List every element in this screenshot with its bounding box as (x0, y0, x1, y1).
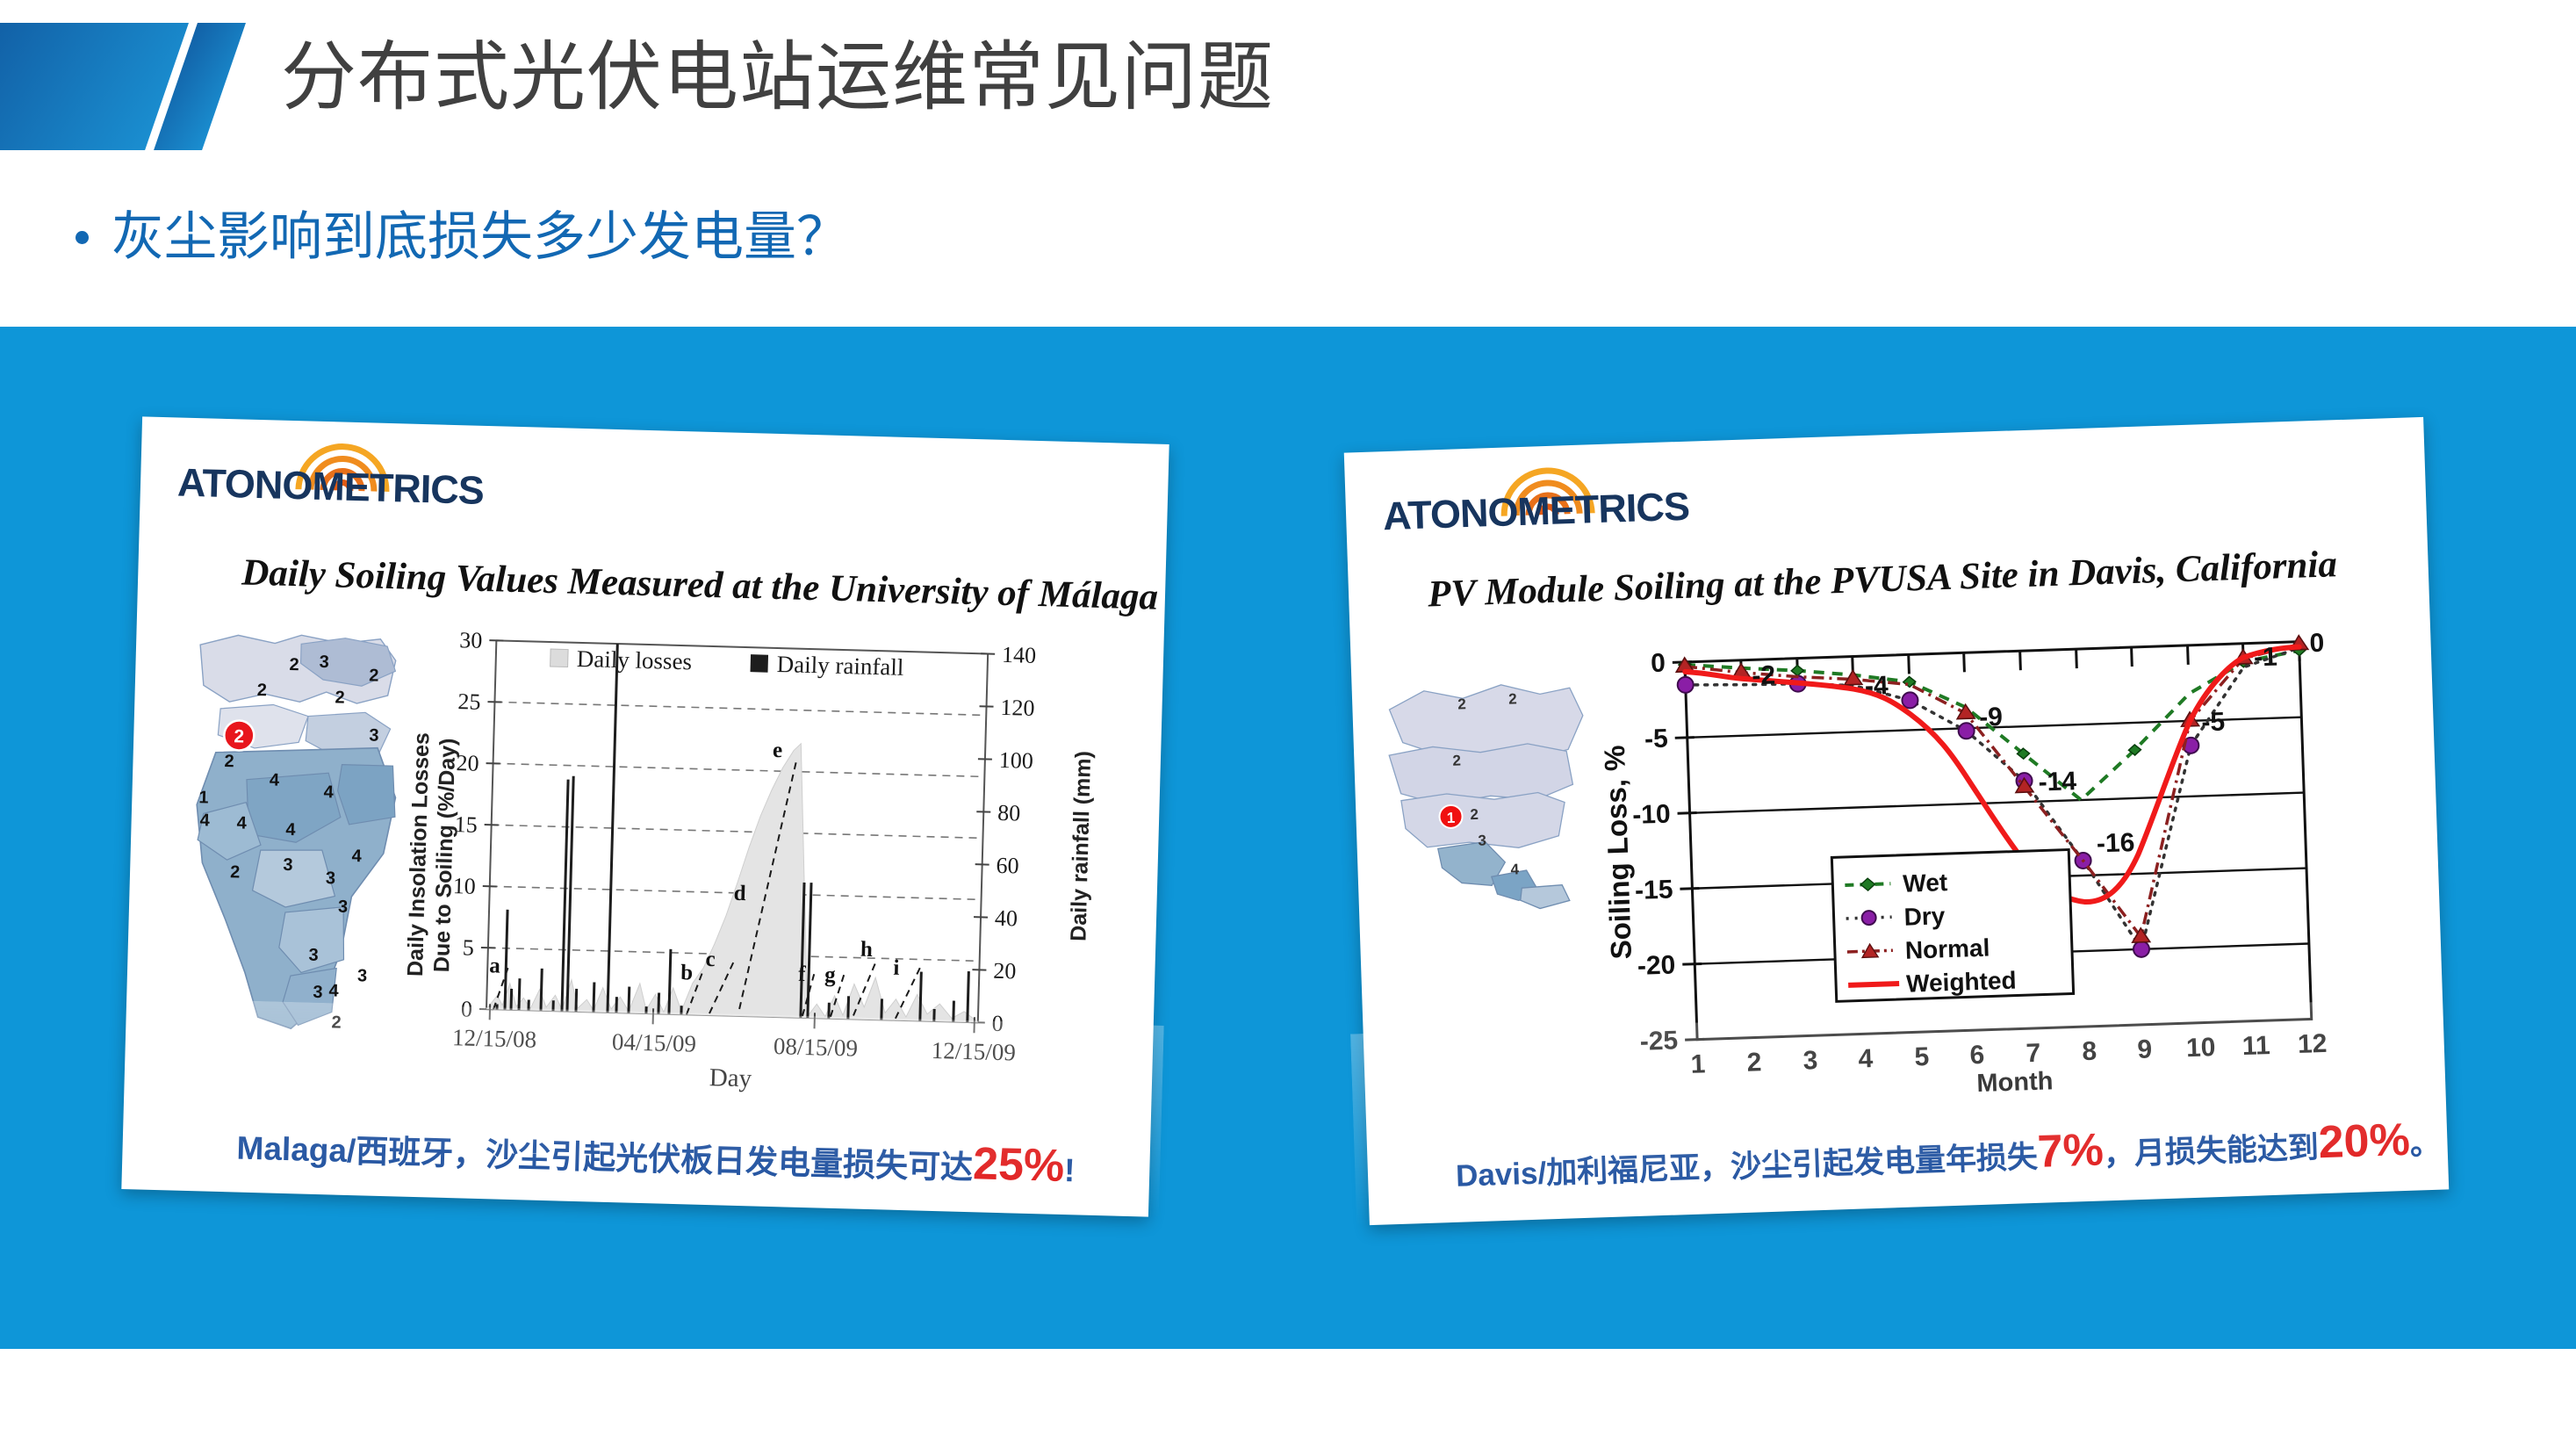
svg-text:2: 2 (1746, 1048, 1762, 1078)
annotation-a: a (489, 954, 501, 977)
svg-text:4: 4 (323, 782, 335, 802)
svg-text:80: 80 (997, 800, 1021, 826)
annotation-g: g (824, 963, 837, 987)
svg-text:3: 3 (319, 652, 329, 672)
right-chart-ylabel: Soiling Loss, % (1598, 745, 1637, 960)
svg-text:4: 4 (1858, 1044, 1874, 1074)
svg-text:0: 0 (1651, 649, 1666, 679)
svg-text:4: 4 (199, 811, 211, 830)
left-caption: Malaga/西班牙，沙尘引起光伏板日发电量损失可达25%! (236, 1118, 1076, 1193)
svg-text:2: 2 (256, 681, 267, 700)
annotation-i: i (893, 956, 900, 980)
svg-text:Weighted: Weighted (1906, 967, 2017, 998)
svg-text:4: 4 (236, 813, 248, 833)
right-figure-card[interactable]: ATONOMETRICS PV Module Soiling at the PV… (1344, 417, 2450, 1225)
atonometrics-logo-right: ATONOMETRICS (1382, 463, 1736, 555)
svg-text:2: 2 (289, 655, 299, 674)
svg-text:2: 2 (335, 688, 345, 707)
svg-text:3: 3 (308, 946, 319, 965)
left-caption-value: 25% (972, 1138, 1065, 1192)
left-chart-plot: 302520 15105 0 140120100 806040 200 (387, 608, 1120, 1119)
slide-header: 分布式光伏电站运维常见问题 灰尘影响到底损失多少发电量？ (0, 0, 2576, 327)
svg-text:2: 2 (1457, 696, 1466, 712)
svg-text:6: 6 (1969, 1041, 1985, 1071)
svg-text:-15: -15 (1635, 875, 1673, 905)
svg-text:1: 1 (1690, 1049, 1706, 1079)
svg-text:3: 3 (283, 855, 293, 875)
svg-text:2: 2 (369, 666, 379, 685)
svg-text:2: 2 (1452, 752, 1461, 768)
logo-wordmark: ATONOMETRICS (176, 459, 484, 513)
right-soiling-map: 22 22 34 1 (1381, 664, 1613, 1049)
svg-text:140: 140 (1002, 642, 1037, 668)
svg-text:Dry: Dry (1903, 902, 1946, 931)
svg-text:20: 20 (993, 958, 1017, 984)
svg-text:12/15/08: 12/15/08 (452, 1024, 537, 1053)
header-decoration (0, 23, 290, 150)
svg-text:Normal: Normal (1904, 934, 1990, 964)
left-chart-title: Daily Soiling Values Measured at the Uni… (241, 551, 1159, 618)
annotation-d: d (733, 882, 746, 905)
right-caption-value-1: 7% (2037, 1124, 2105, 1177)
svg-text:5: 5 (463, 934, 475, 960)
data-label-m2: -2 (1752, 660, 1776, 690)
left-chart-xlabel: Day (709, 1063, 752, 1092)
right-caption-middle: ，月损失能达到 (2103, 1130, 2319, 1171)
svg-text:0: 0 (461, 996, 473, 1021)
logo-wordmark-right: ATONOMETRICS (1382, 484, 1689, 540)
svg-text:100: 100 (999, 747, 1034, 774)
right-chart-title: PV Module Soiling at the PVUSA Site in D… (1427, 543, 2337, 616)
left-soiling-map: 232 223 244 144 443 323 333 42 2 (159, 628, 407, 1047)
svg-text:Daily losses: Daily losses (576, 645, 692, 675)
annotation-b: b (680, 961, 694, 984)
bullet-dot-icon (76, 231, 89, 244)
svg-text:-25: -25 (1639, 1026, 1678, 1056)
svg-text:3: 3 (1478, 833, 1486, 849)
annotation-e: e (773, 739, 783, 762)
left-chart-y2label: Daily rainfall (mm) (1066, 751, 1096, 941)
slide-root: 分布式光伏电站运维常见问题 灰尘影响到底损失多少发电量？ ATONOMETRIC… (0, 0, 2576, 1449)
svg-text:8: 8 (2082, 1037, 2097, 1067)
right-chart-xlabel: Month (1976, 1067, 2054, 1098)
annotation-c: c (705, 948, 716, 971)
data-label-m1: -1 (2254, 643, 2278, 673)
svg-text:2: 2 (331, 1013, 342, 1032)
svg-text:12: 12 (2297, 1029, 2327, 1059)
svg-text:25: 25 (457, 688, 481, 715)
atonometrics-logo: ATONOMETRICS (176, 440, 529, 530)
page-title: 分布式光伏电站运维常见问题 (281, 25, 1949, 130)
svg-text:3: 3 (338, 898, 349, 917)
svg-text:-5: -5 (1644, 724, 1669, 754)
svg-text:04/15/09: 04/15/09 (612, 1028, 697, 1057)
svg-text:10: 10 (2186, 1033, 2216, 1063)
svg-text:3: 3 (1802, 1046, 1818, 1076)
svg-text:3: 3 (313, 983, 323, 1002)
left-figure-card[interactable]: ATONOMETRICS Daily Soiling Values Measur… (121, 416, 1169, 1216)
svg-text:3: 3 (326, 869, 336, 888)
left-caption-prefix: Malaga/西班牙，沙尘引起光伏板日发电量损失可达 (236, 1130, 974, 1186)
svg-text:4: 4 (285, 820, 297, 840)
right-caption-suffix: 。 (2409, 1127, 2441, 1162)
svg-text:08/15/09: 08/15/09 (774, 1033, 859, 1062)
svg-text:Daily rainfall: Daily rainfall (776, 651, 903, 681)
svg-text:40: 40 (995, 905, 1018, 932)
data-label-m16: -16 (2096, 828, 2134, 858)
map-marker-label-right: 1 (1447, 810, 1456, 826)
data-label-m9: -9 (1979, 703, 2004, 732)
svg-text:9: 9 (2137, 1034, 2153, 1064)
right-chart-plot: 0-5-10 -15-20-25 (1587, 608, 2376, 1125)
svg-text:30: 30 (459, 627, 483, 653)
svg-text:7: 7 (2026, 1039, 2041, 1069)
svg-text:Due to Soiling (%/Day): Due to Soiling (%/Day) (429, 738, 460, 972)
svg-text:-10: -10 (1632, 800, 1671, 830)
svg-text:4: 4 (1510, 861, 1520, 877)
map-marker-label-left: 2 (234, 726, 244, 746)
annotation-h: h (860, 938, 874, 962)
svg-text:4: 4 (351, 847, 363, 866)
bullet-item: 灰尘影响到底损失多少发电量？ (76, 204, 849, 270)
svg-text:1: 1 (198, 788, 209, 807)
svg-text:3: 3 (369, 725, 379, 745)
right-caption-value-2: 20% (2318, 1114, 2411, 1168)
svg-text:2: 2 (224, 752, 234, 771)
svg-text:3: 3 (357, 966, 368, 985)
svg-text:120: 120 (1000, 695, 1035, 721)
bullet-text: 灰尘影响到底损失多少发电量？ (112, 204, 849, 270)
svg-text:12/15/09: 12/15/09 (932, 1037, 1017, 1066)
data-label-m14: -14 (2038, 767, 2077, 797)
left-caption-suffix: ! (1064, 1152, 1076, 1188)
annotation-f: f (798, 962, 807, 986)
data-label-0: 0 (2309, 629, 2325, 659)
svg-text:60: 60 (996, 853, 1019, 879)
right-caption-prefix: Davis/加利福尼亚，沙尘引起发电量年损失 (1455, 1140, 2038, 1193)
data-label-m5: -5 (2201, 708, 2226, 738)
svg-text:2: 2 (1470, 806, 1479, 823)
data-label-m4: -4 (1864, 671, 1889, 701)
svg-text:2: 2 (230, 862, 241, 882)
svg-text:5: 5 (1914, 1042, 1930, 1072)
svg-text:4: 4 (328, 981, 340, 1000)
svg-text:0: 0 (991, 1011, 1004, 1036)
svg-text:Wet: Wet (1903, 869, 1948, 898)
svg-text:11: 11 (2241, 1031, 2270, 1061)
right-chart-legend: Wet Dry Normal Weighted (1831, 850, 2073, 1002)
svg-text:2: 2 (1508, 690, 1517, 707)
svg-text:-20: -20 (1637, 950, 1675, 980)
svg-text:4: 4 (270, 770, 281, 789)
